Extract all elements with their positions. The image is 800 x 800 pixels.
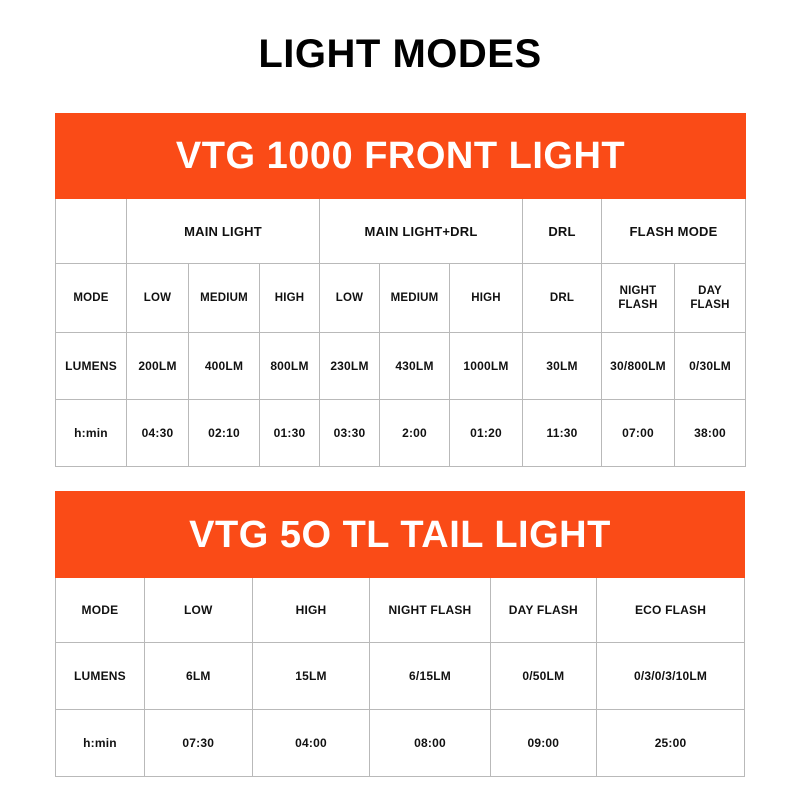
- light-modes-page: LIGHT MODES VTG 1000 FRONT LIGHT MAIN LI…: [0, 0, 800, 800]
- front-runtime-drl: 11:30: [523, 400, 602, 467]
- front-lumens-high-2: 1000LM: [450, 333, 523, 400]
- front-lumens-label: LUMENS: [56, 333, 127, 400]
- tail-runtime-low: 07:30: [144, 710, 252, 777]
- front-col-medium-2: MEDIUM: [380, 264, 450, 333]
- front-lumens-day-flash: 0/30LM: [675, 333, 746, 400]
- front-column-header-row: MODE LOW MEDIUM HIGH LOW MEDIUM HIGH DRL…: [56, 264, 746, 333]
- tail-runtime-high: 04:00: [252, 710, 370, 777]
- tail-col-low: LOW: [144, 578, 252, 643]
- front-runtime-label: h:min: [56, 400, 127, 467]
- tail-lumens-eco-flash: 0/3/0/3/10LM: [597, 643, 745, 710]
- front-col-high-2: HIGH: [450, 264, 523, 333]
- tail-light-banner-label: VTG 5O TL TAIL LIGHT: [56, 516, 744, 554]
- front-group-header-drl: DRL: [523, 199, 602, 264]
- front-group-header-main-light: MAIN LIGHT: [127, 199, 320, 264]
- front-runtime-high-2: 01:20: [450, 400, 523, 467]
- tail-banner-row: VTG 5O TL TAIL LIGHT: [56, 492, 745, 578]
- tail-runtime-eco-flash: 25:00: [597, 710, 745, 777]
- tail-lumens-day-flash: 0/50LM: [490, 643, 596, 710]
- tail-runtime-row: h:min 07:30 04:00 08:00 09:00 25:00: [56, 710, 745, 777]
- front-runtime-low-1: 04:30: [127, 400, 189, 467]
- front-col-medium-1: MEDIUM: [189, 264, 260, 333]
- front-lumens-high-1: 800LM: [260, 333, 320, 400]
- front-runtime-high-1: 01:30: [260, 400, 320, 467]
- front-runtime-medium-2: 2:00: [380, 400, 450, 467]
- front-lumens-medium-1: 400LM: [189, 333, 260, 400]
- front-lumens-low-1: 200LM: [127, 333, 189, 400]
- front-runtime-night-flash: 07:00: [602, 400, 675, 467]
- front-group-header-main-light-drl: MAIN LIGHT+DRL: [320, 199, 523, 264]
- tail-col-night-flash: NIGHT FLASH: [370, 578, 490, 643]
- tail-runtime-label: h:min: [56, 710, 145, 777]
- front-col-high-1: HIGH: [260, 264, 320, 333]
- page-title: LIGHT MODES: [0, 32, 800, 76]
- tail-column-header-row: MODE LOW HIGH NIGHT FLASH DAY FLASH ECO …: [56, 578, 745, 643]
- front-runtime-low-2: 03:30: [320, 400, 380, 467]
- front-col-night-flash: NIGHT FLASH: [602, 264, 675, 333]
- tail-lumens-label: LUMENS: [56, 643, 145, 710]
- front-runtime-day-flash: 38:00: [675, 400, 746, 467]
- front-runtime-medium-1: 02:10: [189, 400, 260, 467]
- front-group-header-row: MAIN LIGHT MAIN LIGHT+DRL DRL FLASH MODE: [56, 199, 746, 264]
- tail-lumens-night-flash: 6/15LM: [370, 643, 490, 710]
- tail-lumens-high: 15LM: [252, 643, 370, 710]
- front-col-drl: DRL: [523, 264, 602, 333]
- front-light-banner-label: VTG 1000 FRONT LIGHT: [56, 137, 745, 175]
- front-lumens-row: LUMENS 200LM 400LM 800LM 230LM 430LM 100…: [56, 333, 746, 400]
- tail-lumens-low: 6LM: [144, 643, 252, 710]
- front-group-header-flash-mode: FLASH MODE: [602, 199, 746, 264]
- front-lumens-drl: 30LM: [523, 333, 602, 400]
- front-light-banner: VTG 1000 FRONT LIGHT: [56, 114, 746, 199]
- tail-col-mode: MODE: [56, 578, 145, 643]
- front-lumens-low-2: 230LM: [320, 333, 380, 400]
- front-lumens-night-flash: 30/800LM: [602, 333, 675, 400]
- front-col-day-flash: DAY FLASH: [675, 264, 746, 333]
- tail-light-spec-table: VTG 5O TL TAIL LIGHT MODE LOW HIGH NIGHT…: [55, 491, 745, 777]
- front-group-header-empty: [56, 199, 127, 264]
- front-col-mode: MODE: [56, 264, 127, 333]
- tail-runtime-day-flash: 09:00: [490, 710, 596, 777]
- front-light-spec-table: VTG 1000 FRONT LIGHT MAIN LIGHT MAIN LIG…: [55, 113, 746, 467]
- front-col-low-2: LOW: [320, 264, 380, 333]
- front-lumens-medium-2: 430LM: [380, 333, 450, 400]
- tail-col-high: HIGH: [252, 578, 370, 643]
- tail-lumens-row: LUMENS 6LM 15LM 6/15LM 0/50LM 0/3/0/3/10…: [56, 643, 745, 710]
- tail-col-eco-flash: ECO FLASH: [597, 578, 745, 643]
- tail-light-banner: VTG 5O TL TAIL LIGHT: [56, 492, 745, 578]
- tail-col-day-flash: DAY FLASH: [490, 578, 596, 643]
- front-runtime-row: h:min 04:30 02:10 01:30 03:30 2:00 01:20…: [56, 400, 746, 467]
- front-col-low-1: LOW: [127, 264, 189, 333]
- front-banner-row: VTG 1000 FRONT LIGHT: [56, 114, 746, 199]
- tail-runtime-night-flash: 08:00: [370, 710, 490, 777]
